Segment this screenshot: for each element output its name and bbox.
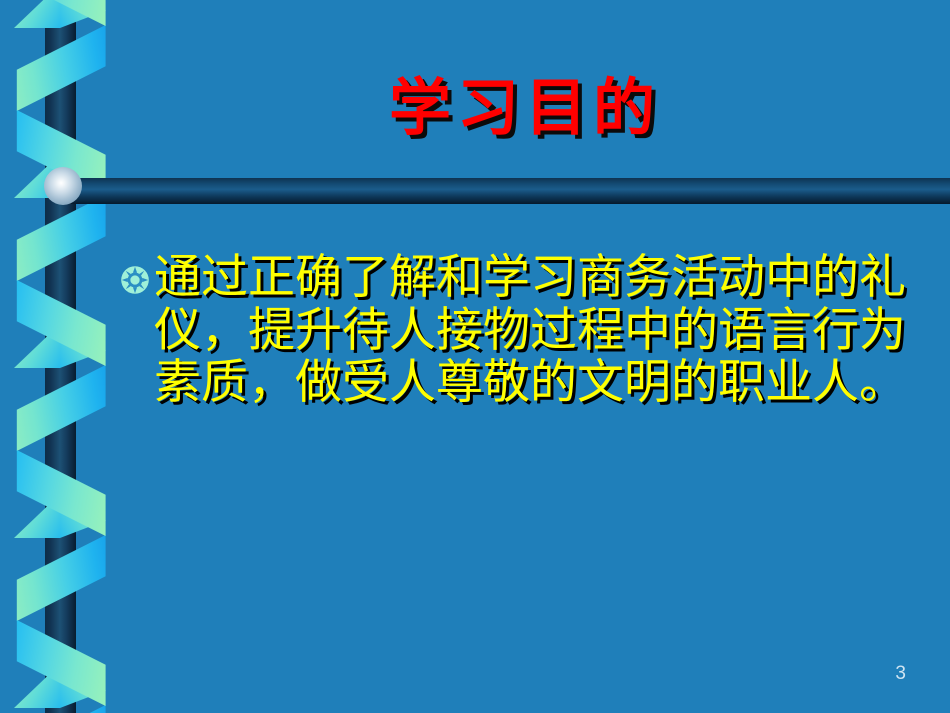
bullet-text: 通过正确了解和学习商务活动中的礼仪，提升待人接物过程中的语言行为素质，做受人尊敬… [154,252,930,410]
ribbon-fold-left [14,0,60,28]
page-title: 学习目的 [120,78,930,140]
ribbon-band-back [0,25,120,111]
ribbon-unit [0,0,120,110]
glossy-sphere-icon [44,167,82,205]
ribbon-band-back [0,535,120,621]
ribbon-unit [0,620,120,713]
sun-gear-bullet-icon [120,265,150,295]
ribbon-band-back [0,195,120,281]
bullet-list-item: 通过正确了解和学习商务活动中的礼仪，提升待人接物过程中的语言行为素质，做受人尊敬… [120,252,930,410]
body-content: 通过正确了解和学习商务活动中的礼仪，提升待人接物过程中的语言行为素质，做受人尊敬… [120,252,930,410]
ribbon-unit [0,280,120,450]
title-underline-bar [62,178,950,204]
ribbon-unit [0,450,120,620]
ribbon-band-back [0,365,120,451]
page-number: 3 [895,663,906,685]
spiral-ribbon-decoration [0,0,120,713]
presentation-slide: 学习目的 [0,0,950,713]
